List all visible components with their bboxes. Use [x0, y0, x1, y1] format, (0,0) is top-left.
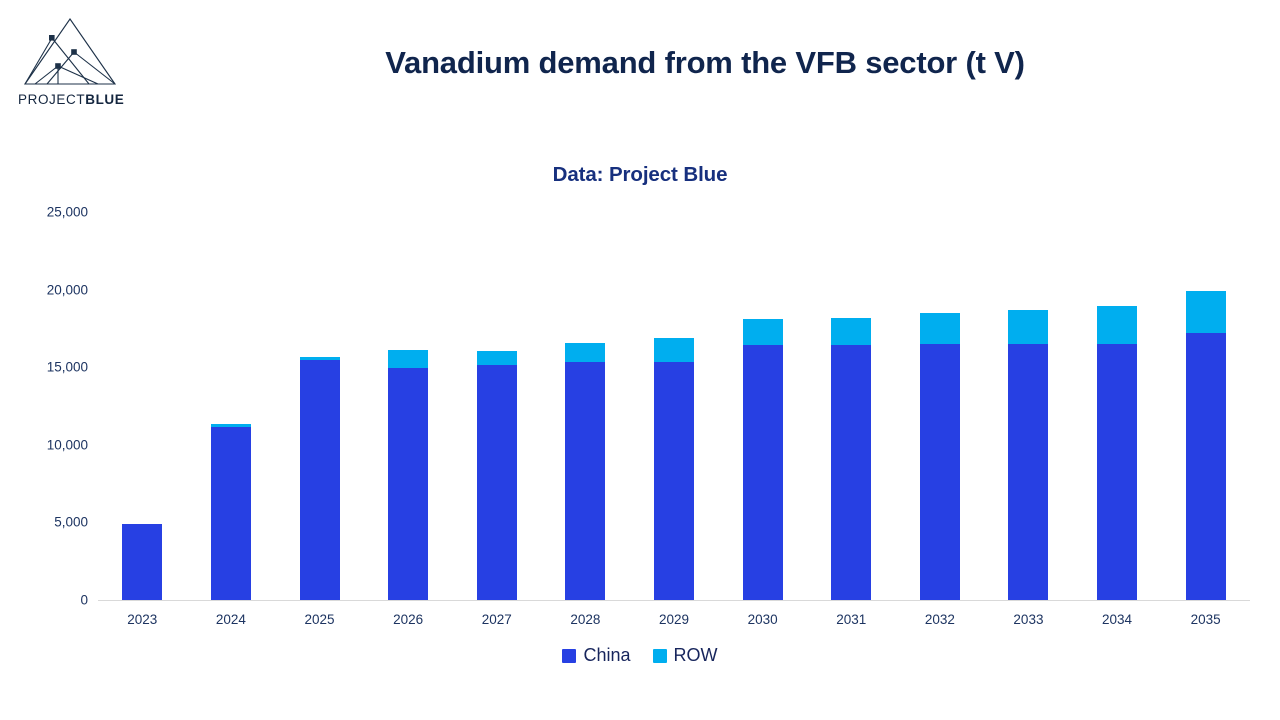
bar-stack[interactable] — [1186, 291, 1226, 600]
y-axis-tick-label: 15,000 — [0, 360, 88, 375]
y-axis-tick-label: 5,000 — [0, 515, 88, 530]
bar-segment-row[interactable] — [388, 350, 428, 368]
bar-stack[interactable] — [211, 424, 251, 600]
bar-group[interactable] — [452, 212, 541, 600]
y-axis-tick-label: 10,000 — [0, 437, 88, 452]
bar-group[interactable] — [275, 212, 364, 600]
bar-segment-china[interactable] — [920, 344, 960, 600]
bar-segment-row[interactable] — [920, 313, 960, 344]
bar-group[interactable] — [1073, 212, 1162, 600]
bar-group[interactable] — [718, 212, 807, 600]
legend-item[interactable]: China — [562, 645, 630, 666]
bar-group[interactable] — [807, 212, 896, 600]
bar-segment-row[interactable] — [831, 318, 871, 345]
y-axis-tick-label: 20,000 — [0, 282, 88, 297]
y-axis-tick-label: 25,000 — [0, 205, 88, 220]
bar-stack[interactable] — [300, 357, 340, 600]
legend-item[interactable]: ROW — [653, 645, 718, 666]
bar-segment-china[interactable] — [211, 427, 251, 600]
bar-segment-china[interactable] — [831, 345, 871, 600]
bar-stack[interactable] — [831, 318, 871, 600]
y-axis-tick-label: 0 — [0, 593, 88, 608]
bar-group[interactable] — [98, 212, 187, 600]
bar-group[interactable] — [187, 212, 276, 600]
bar-stack[interactable] — [565, 343, 605, 600]
bar-stack[interactable] — [1008, 310, 1048, 600]
bar-segment-china[interactable] — [654, 362, 694, 600]
bar-segment-china[interactable] — [565, 362, 605, 600]
legend-swatch-icon — [562, 649, 576, 663]
bar-segment-row[interactable] — [477, 351, 517, 365]
bar-segment-china[interactable] — [1186, 333, 1226, 600]
bar-stack[interactable] — [122, 524, 162, 600]
bar-segment-row[interactable] — [654, 338, 694, 362]
bar-stack[interactable] — [920, 313, 960, 600]
bar-stack[interactable] — [743, 319, 783, 600]
x-axis-line — [98, 600, 1250, 601]
bar-segment-china[interactable] — [122, 524, 162, 600]
bar-segment-china[interactable] — [743, 345, 783, 600]
bar-series-group — [98, 212, 1250, 600]
legend-swatch-icon — [653, 649, 667, 663]
chart-legend: ChinaROW — [0, 645, 1280, 666]
bar-segment-china[interactable] — [388, 368, 428, 600]
chart-canvas: 05,00010,00015,00020,00025,000 202320242… — [0, 0, 1280, 720]
bar-stack[interactable] — [1097, 306, 1137, 600]
bar-segment-row[interactable] — [1186, 291, 1226, 333]
bar-segment-row[interactable] — [565, 343, 605, 362]
bar-group[interactable] — [896, 212, 985, 600]
bar-group[interactable] — [630, 212, 719, 600]
legend-label: China — [583, 645, 630, 666]
bar-stack[interactable] — [477, 351, 517, 600]
bar-segment-row[interactable] — [1008, 310, 1048, 344]
bar-group[interactable] — [984, 212, 1073, 600]
bar-segment-china[interactable] — [300, 360, 340, 600]
bar-segment-china[interactable] — [1008, 344, 1048, 600]
bar-group[interactable] — [1161, 212, 1250, 600]
legend-label: ROW — [674, 645, 718, 666]
bar-segment-row[interactable] — [743, 319, 783, 345]
bar-group[interactable] — [541, 212, 630, 600]
bar-stack[interactable] — [654, 338, 694, 600]
x-axis-tick-label: 2035 — [1146, 612, 1266, 627]
bar-group[interactable] — [364, 212, 453, 600]
bar-segment-row[interactable] — [1097, 306, 1137, 344]
bar-segment-china[interactable] — [1097, 344, 1137, 600]
bar-segment-china[interactable] — [477, 365, 517, 600]
bar-stack[interactable] — [388, 350, 428, 600]
